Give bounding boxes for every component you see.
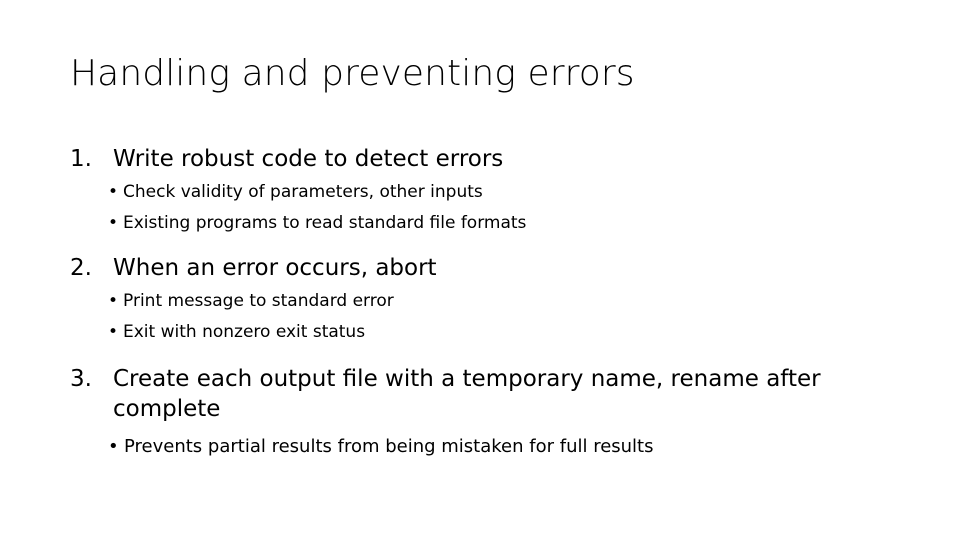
sub-item-text: Prevents partial results from being mist… bbox=[124, 434, 900, 460]
numbered-item-3-text: Create each output file with a temporary… bbox=[113, 364, 900, 424]
numbered-item-3-row: 3. Create each output file with a tempor… bbox=[70, 364, 900, 424]
bullet-icon: • bbox=[108, 317, 118, 348]
sub-item-text: Existing programs to read standard file … bbox=[123, 208, 900, 239]
numbered-item-2: 2. When an error occurs, abort • Print m… bbox=[70, 253, 900, 348]
list-number-2: 2. bbox=[70, 253, 104, 283]
numbered-item-1-row: 1. Write robust code to detect errors bbox=[70, 144, 900, 174]
list-item: • Check validity of parameters, other in… bbox=[70, 177, 900, 208]
bullet-icon: • bbox=[108, 177, 118, 208]
sub-list-3: • Prevents partial results from being mi… bbox=[70, 434, 900, 460]
sub-list-1: • Check validity of parameters, other in… bbox=[70, 177, 900, 239]
bullet-icon: • bbox=[108, 286, 118, 317]
list-number-3: 3. bbox=[70, 364, 104, 394]
bullet-icon: • bbox=[108, 434, 119, 460]
bullet-icon: • bbox=[108, 208, 118, 239]
list-item: • Existing programs to read standard fil… bbox=[70, 208, 900, 239]
list-number-1: 1. bbox=[70, 144, 104, 174]
sub-item-text: Check validity of parameters, other inpu… bbox=[123, 177, 900, 208]
numbered-item-2-row: 2. When an error occurs, abort bbox=[70, 253, 900, 283]
slide-body: 1. Write robust code to detect errors • … bbox=[70, 144, 900, 460]
page-title: Handling and preventing errors bbox=[70, 52, 900, 96]
sub-item-text: Print message to standard error bbox=[123, 286, 900, 317]
list-item: • Prevents partial results from being mi… bbox=[70, 434, 900, 460]
numbered-item-1-text: Write robust code to detect errors bbox=[113, 144, 900, 174]
sub-list-2: • Print message to standard error • Exit… bbox=[70, 286, 900, 348]
numbered-item-3: 3. Create each output file with a tempor… bbox=[70, 364, 900, 460]
list-item: • Print message to standard error bbox=[70, 286, 900, 317]
slide: Handling and preventing errors 1. Write … bbox=[0, 0, 960, 540]
sub-item-text: Exit with nonzero exit status bbox=[123, 317, 900, 348]
list-item: • Exit with nonzero exit status bbox=[70, 317, 900, 348]
numbered-item-2-text: When an error occurs, abort bbox=[113, 253, 900, 283]
numbered-item-1: 1. Write robust code to detect errors • … bbox=[70, 144, 900, 239]
